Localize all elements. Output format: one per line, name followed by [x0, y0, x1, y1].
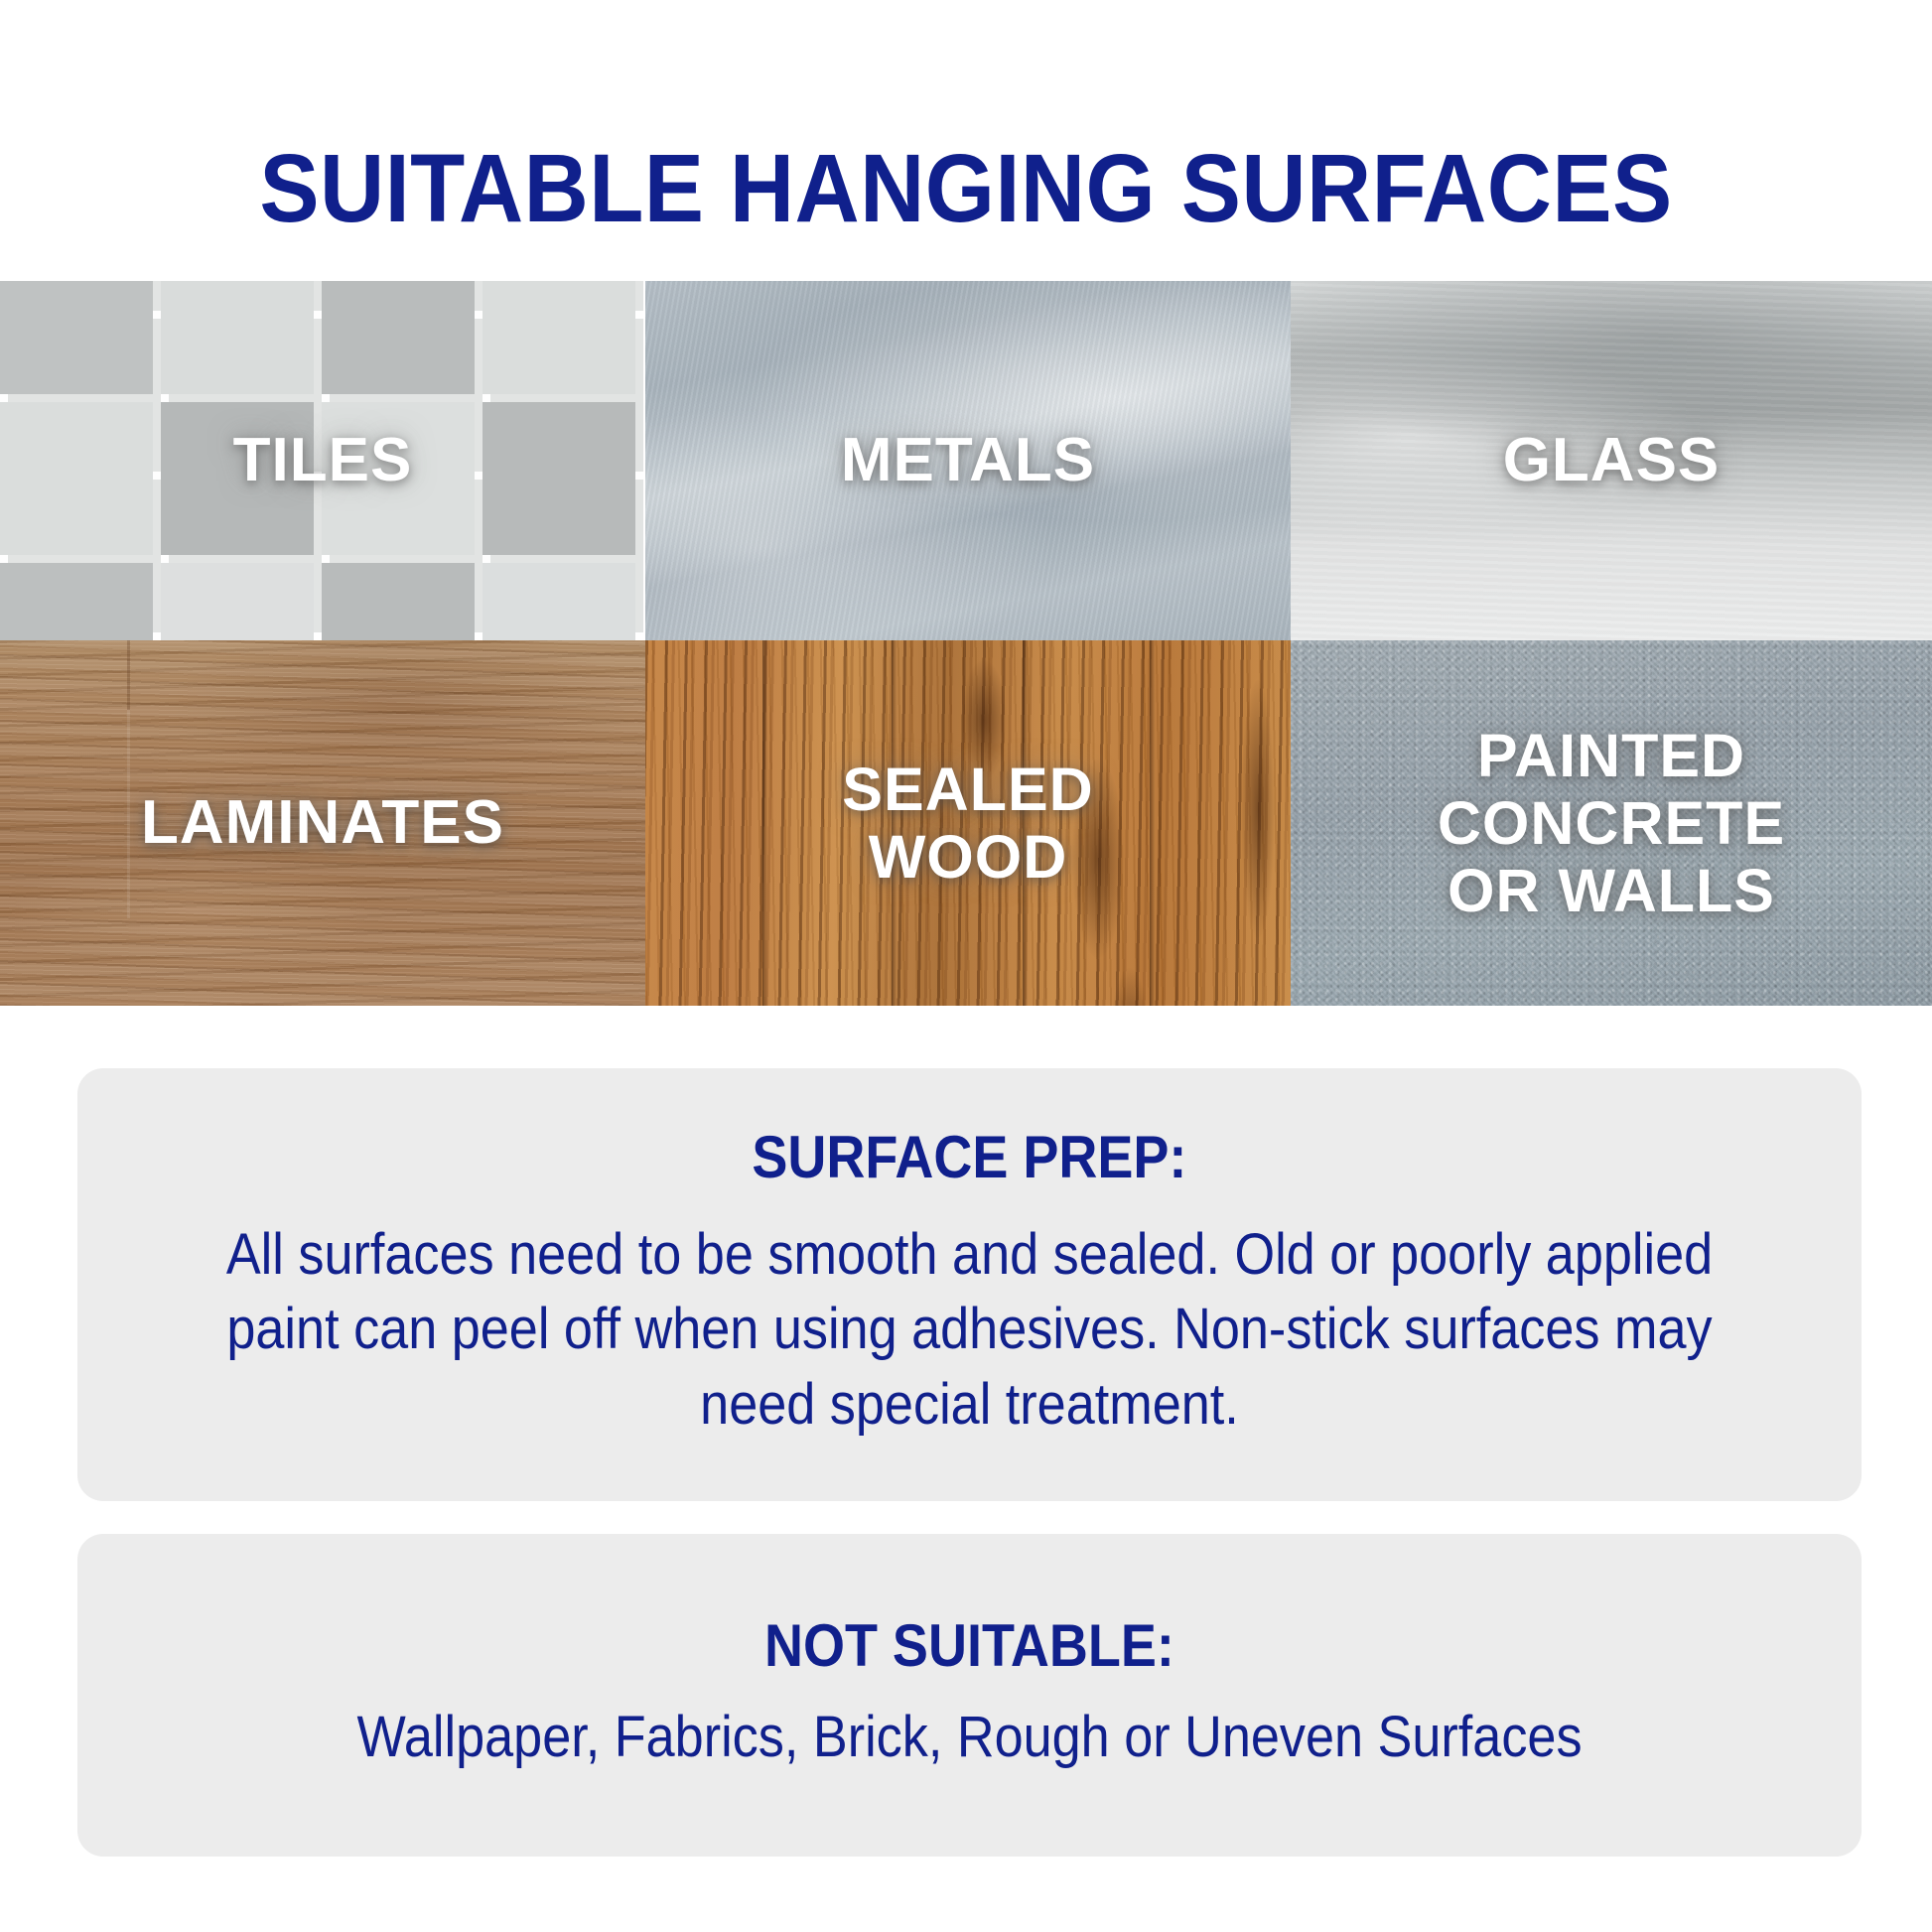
- surface-cell-laminates: LAMINATES: [0, 640, 645, 1006]
- surface-cell-glass: GLASS: [1291, 281, 1932, 640]
- surface-label-metals: METALS: [841, 426, 1095, 494]
- not-suitable-body: Wallpaper, Fabrics, Brick, Rough or Unev…: [356, 1700, 1582, 1774]
- surface-label-sealed-wood: SEALED WOOD: [842, 756, 1093, 892]
- page-title: SUITABLE HANGING SURFACES: [68, 140, 1864, 236]
- surface-label-glass: GLASS: [1503, 426, 1721, 494]
- surface-cell-tiles: TILES: [0, 281, 645, 640]
- surface-label-painted-concrete: PAINTED CONCRETE OR WALLS: [1438, 722, 1785, 925]
- surface-grid: TILES METALS GLASS LAMINATES SEALED WOOD: [0, 281, 1932, 1006]
- surface-prep-heading: SURFACE PREP:: [752, 1128, 1186, 1187]
- surface-cell-painted-concrete: PAINTED CONCRETE OR WALLS: [1291, 640, 1932, 1006]
- not-suitable-card: NOT SUITABLE: Wallpaper, Fabrics, Brick,…: [77, 1534, 1862, 1857]
- surface-cell-sealed-wood: SEALED WOOD: [645, 640, 1291, 1006]
- surface-label-laminates: LAMINATES: [141, 788, 504, 857]
- not-suitable-heading: NOT SUITABLE:: [764, 1616, 1174, 1676]
- surface-prep-body: All surfaces need to be smooth and seale…: [167, 1217, 1772, 1442]
- surface-cell-metals: METALS: [645, 281, 1291, 640]
- surface-prep-card: SURFACE PREP: All surfaces need to be sm…: [77, 1068, 1862, 1501]
- surface-label-tiles: TILES: [233, 426, 413, 494]
